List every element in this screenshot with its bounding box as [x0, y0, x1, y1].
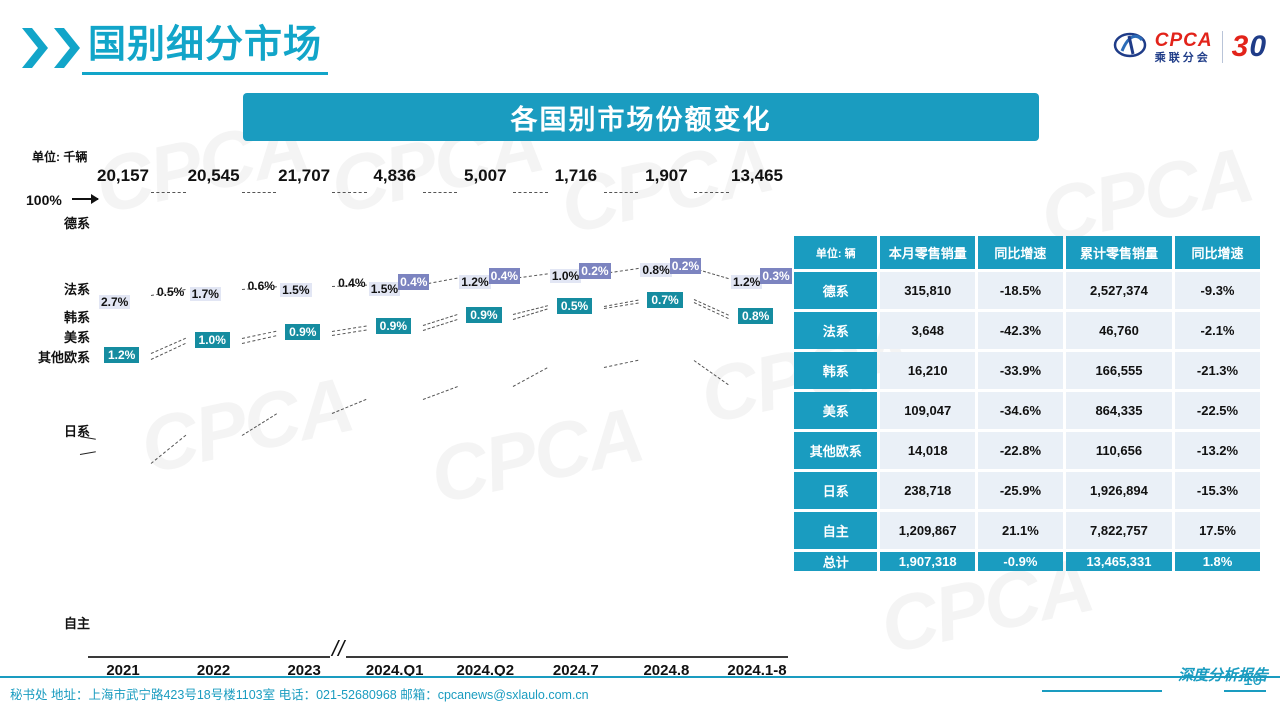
link-top	[242, 192, 277, 193]
cpca-emblem-icon: CPCA 乘联分会	[1113, 30, 1213, 64]
other-europe-share-label: 0.9%	[376, 318, 411, 334]
table-cell: 46,760	[1066, 312, 1172, 349]
korea-share-label: 1.7%	[190, 287, 221, 301]
leader-line-1	[80, 451, 96, 455]
logo-cpca-text: CPCA	[1155, 31, 1213, 50]
france-share-label: 0.4%	[338, 276, 365, 290]
table: 单位: 辆本月零售销量同比增速累计零售销量同比增速 德系315,810-18.5…	[791, 233, 1263, 574]
footer-divider	[0, 676, 1280, 678]
table-cell: -42.3%	[978, 312, 1063, 349]
korea-share-label: 0.8%	[640, 263, 671, 277]
table-cell: 16,210	[880, 352, 974, 389]
other-europe-share-label: 0.8%	[738, 308, 773, 324]
korea-share-label: 1.2%	[731, 275, 762, 289]
table-cell: -21.3%	[1175, 352, 1260, 389]
bar-total-label: 1,907	[645, 166, 688, 186]
bar-total-label: 1,716	[555, 166, 598, 186]
france-share-label: 0.3%	[760, 268, 791, 284]
bar-total-label: 21,707	[278, 166, 330, 186]
france-share-label: 0.4%	[398, 274, 429, 290]
table-row-name: 日系	[794, 472, 877, 509]
table-cell: 110,656	[1066, 432, 1172, 469]
table-cell: 3,648	[880, 312, 974, 349]
bar-total-label: 5,007	[464, 166, 507, 186]
table-cell: -18.5%	[978, 272, 1063, 309]
table-cell: -9.3%	[1175, 272, 1260, 309]
table-cell: -25.9%	[978, 472, 1063, 509]
table-row: 自主1,209,86721.1%7,822,75717.5%	[794, 512, 1260, 549]
page-number: 10	[1243, 670, 1262, 690]
table-row-name: 韩系	[794, 352, 877, 389]
footer-contact: 秘书处 地址：上海市武宁路423号18号楼1103室 电话：021-526809…	[10, 684, 589, 703]
link-other-europe-bottom	[694, 302, 729, 319]
anniversary-badge: 3 0	[1232, 30, 1266, 64]
table-cell: 1,926,894	[1066, 472, 1172, 509]
table-row-name: 其他欧系	[794, 432, 877, 469]
table-cell: -22.5%	[1175, 392, 1260, 429]
table-total-cell: 1,907,318	[880, 552, 974, 571]
table-cell: -33.9%	[978, 352, 1063, 389]
table-cell: 14,018	[880, 432, 974, 469]
table-cell: -13.2%	[1175, 432, 1260, 469]
table-row-name: 自主	[794, 512, 877, 549]
bar-total-label: 20,157	[97, 166, 149, 186]
table-col-header-2: 同比增速	[978, 236, 1063, 269]
table-col-header-4: 同比增速	[1175, 236, 1260, 269]
table-row: 美系109,047-34.6%864,335-22.5%	[794, 392, 1260, 429]
table-cell: 864,335	[1066, 392, 1172, 429]
table-row-name: 美系	[794, 392, 877, 429]
korea-share-label: 1.5%	[280, 283, 311, 297]
link-top	[604, 192, 639, 193]
france-share-label: 0.4%	[489, 268, 520, 284]
link-top	[423, 192, 458, 193]
cpca-logo: CPCA 乘联分会 3 0	[1113, 24, 1266, 70]
table-row: 韩系16,210-33.9%166,555-21.3%	[794, 352, 1260, 389]
table-cell: -15.3%	[1175, 472, 1260, 509]
bar-column: 21,707	[276, 192, 332, 652]
link-domestic	[332, 399, 367, 414]
bar-total-label: 20,545	[188, 166, 240, 186]
france-share-label: 0.2%	[579, 263, 610, 279]
link-top	[332, 192, 367, 193]
link-top	[151, 192, 186, 193]
bar-total-label: 13,465	[731, 166, 783, 186]
stacked-bar-chart: 单位: 千辆 100% 德系法系韩系美系其他欧系日系自主 20,1572.7%0…	[0, 148, 790, 648]
table-cell: 238,718	[880, 472, 974, 509]
table-cell: 166,555	[1066, 352, 1172, 389]
chart-title: 各国别市场份额变化	[511, 98, 772, 137]
link-domestic	[604, 360, 639, 368]
page-title: 国别细分市场	[82, 20, 328, 75]
table-total-cell: 1.8%	[1175, 552, 1260, 571]
table-row: 其他欧系14,018-22.8%110,656-13.2%	[794, 432, 1260, 469]
bar-column: 5,007	[457, 192, 513, 652]
chart-unit-label: 单位: 千辆	[32, 148, 87, 165]
france-share-label: 0.5%	[157, 285, 184, 299]
table-row: 法系3,648-42.3%46,760-2.1%	[794, 312, 1260, 349]
footer-rule-right	[1224, 690, 1266, 692]
chart-plot-area: 20,1572.7%0.5%1.2%20,5451.7%0.6%1.0%21,7…	[95, 192, 785, 652]
x-axis-line	[88, 656, 788, 658]
link-domestic	[513, 367, 548, 387]
table-row-name: 法系	[794, 312, 877, 349]
table-total-name: 总计	[794, 552, 877, 571]
other-europe-share-label: 0.7%	[647, 292, 682, 308]
table-cell: 2,527,374	[1066, 272, 1172, 309]
chart-category-label-2: 韩系	[64, 307, 90, 326]
other-europe-share-label: 0.9%	[285, 324, 320, 340]
other-europe-share-label: 0.5%	[557, 298, 592, 314]
korea-share-label: 1.5%	[369, 282, 400, 296]
country-sales-table: 单位: 辆本月零售销量同比增速累计零售销量同比增速 德系315,810-18.5…	[791, 233, 1263, 574]
table-header-row: 单位: 辆本月零售销量同比增速累计零售销量同比增速	[794, 236, 1260, 269]
other-europe-share-label: 1.0%	[195, 332, 230, 348]
table-row: 日系238,718-25.9%1,926,894-15.3%	[794, 472, 1260, 509]
chart-category-label-3: 美系	[64, 327, 90, 346]
table-cell: 21.1%	[978, 512, 1063, 549]
other-europe-share-label: 1.2%	[104, 347, 139, 363]
chart-category-label-1: 法系	[64, 279, 90, 298]
table-total-cell: -0.9%	[978, 552, 1063, 571]
table-col-header-0: 单位: 辆	[794, 236, 877, 269]
bar-column: 20,157	[95, 192, 151, 652]
france-share-label: 0.6%	[248, 279, 275, 293]
table-cell: 7,822,757	[1066, 512, 1172, 549]
other-europe-share-label: 0.9%	[466, 307, 501, 323]
chart-title-banner: 各国别市场份额变化	[243, 93, 1039, 141]
bar-column: 4,836	[367, 192, 423, 652]
table-row: 德系315,810-18.5%2,527,374-9.3%	[794, 272, 1260, 309]
table-col-header-1: 本月零售销量	[880, 236, 974, 269]
link-domestic	[694, 360, 729, 385]
table-cell: -2.1%	[1175, 312, 1260, 349]
anniv-3: 3	[1232, 30, 1249, 64]
chart-category-label-6: 自主	[64, 613, 90, 632]
logo-cn-text: 乘联分会	[1155, 53, 1213, 64]
axis-break-icon: //	[330, 636, 346, 662]
link-other-europe	[694, 299, 729, 316]
link-domestic	[423, 386, 458, 400]
table-cell: 17.5%	[1175, 512, 1260, 549]
link-domestic	[151, 435, 186, 464]
footer-rule-left	[1042, 690, 1162, 692]
bar-column: 20,545	[186, 192, 242, 652]
chart-category-label-0: 德系	[64, 213, 90, 232]
link-top	[513, 192, 548, 193]
table-cell: -34.6%	[978, 392, 1063, 429]
korea-share-label: 1.2%	[459, 275, 490, 289]
bar-column: 1,716	[548, 192, 604, 652]
link-domestic	[241, 413, 276, 435]
link-top	[694, 192, 729, 193]
bar-total-label: 4,836	[373, 166, 416, 186]
table-row-name: 德系	[794, 272, 877, 309]
axis-100-label: 100%	[26, 192, 62, 208]
bar-column: 13,465	[729, 192, 785, 652]
logo-divider	[1222, 31, 1223, 63]
chart-category-label-4: 其他欧系	[38, 347, 90, 366]
chevron-right-icon	[20, 26, 82, 70]
table-total-cell: 13,465,331	[1066, 552, 1172, 571]
table-total-row: 总计1,907,318-0.9%13,465,3311.8%	[794, 552, 1260, 571]
korea-share-label: 1.0%	[550, 269, 581, 283]
slide-header: 国别细分市场 CPCA 乘联分会 3 0	[0, 0, 1280, 90]
anniv-0: 0	[1249, 30, 1266, 64]
france-share-label: 0.2%	[670, 258, 701, 274]
table-cell: -22.8%	[978, 432, 1063, 469]
table-cell: 109,047	[880, 392, 974, 429]
table-cell: 315,810	[880, 272, 974, 309]
table-col-header-3: 累计零售销量	[1066, 236, 1172, 269]
table-cell: 1,209,867	[880, 512, 974, 549]
korea-share-label: 2.7%	[99, 295, 130, 309]
